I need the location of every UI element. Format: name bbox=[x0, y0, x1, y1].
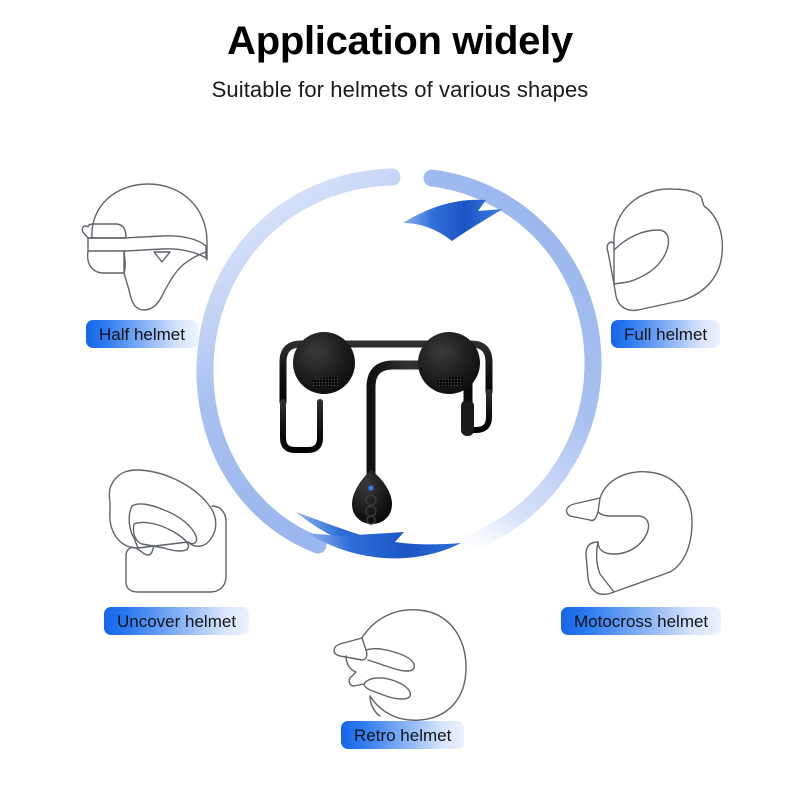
label-half-helmet[interactable]: Half helmet bbox=[86, 320, 198, 348]
right-connector bbox=[461, 400, 474, 436]
label-retro-helmet[interactable]: Retro helmet bbox=[341, 721, 464, 749]
product-image-headset bbox=[258, 252, 528, 527]
headband-left-hook bbox=[283, 402, 320, 450]
control-unit bbox=[352, 470, 392, 524]
label-half-helmet-text: Half helmet bbox=[99, 326, 185, 343]
label-uncover-helmet[interactable]: Uncover helmet bbox=[104, 607, 249, 635]
label-uncover-helmet-text: Uncover helmet bbox=[117, 613, 236, 630]
label-motocross-helmet-text: Motocross helmet bbox=[574, 613, 708, 630]
full-helmet-icon bbox=[592, 172, 750, 324]
label-full-helmet[interactable]: Full helmet bbox=[611, 320, 720, 348]
label-retro-helmet-text: Retro helmet bbox=[354, 727, 451, 744]
retro-helmet-icon bbox=[322, 602, 494, 734]
led-indicator bbox=[368, 485, 373, 490]
page-subtitle: Suitable for helmets of various shapes bbox=[0, 77, 800, 103]
bottom-arrow bbox=[307, 532, 461, 558]
half-helmet-icon bbox=[62, 172, 234, 324]
page-title: Application widely bbox=[0, 20, 800, 63]
label-full-helmet-text: Full helmet bbox=[624, 326, 707, 343]
poster-canvas: Application widely Suitable for helmets … bbox=[0, 0, 800, 799]
uncover-helmet-icon bbox=[92, 452, 254, 604]
motocross-helmet-icon bbox=[552, 452, 722, 612]
top-arrow bbox=[403, 200, 503, 241]
left-speaker-unit bbox=[293, 332, 355, 394]
heading-block: Application widely Suitable for helmets … bbox=[0, 20, 800, 103]
right-speaker-unit bbox=[418, 332, 480, 394]
label-motocross-helmet[interactable]: Motocross helmet bbox=[561, 607, 721, 635]
